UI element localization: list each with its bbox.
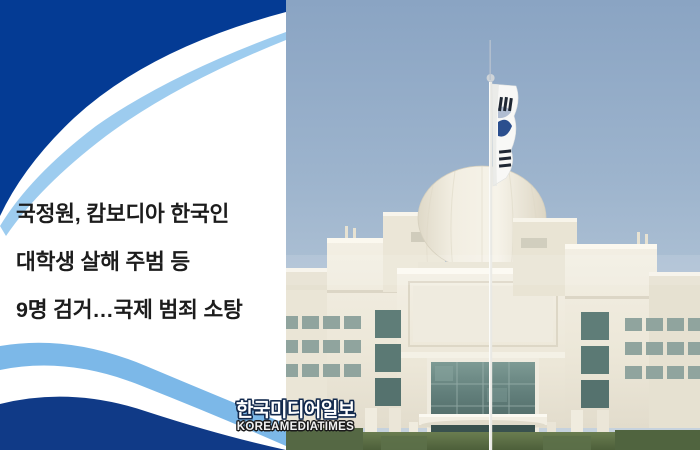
headline-line-2: 대학생 살해 주범 등 <box>16 238 278 286</box>
headline: 국정원, 캄보디아 한국인 대학생 살해 주범 등 9명 검거…국제 범죄 소탕 <box>16 190 278 334</box>
headline-line-3: 9명 검거…국제 범죄 소탕 <box>16 286 278 334</box>
windows-left-grid <box>285 316 361 377</box>
watermark-korean-text: 한국미디어일보 <box>236 400 355 421</box>
windows-left-glass-slots <box>375 310 401 406</box>
news-card: 국정원, 캄보디아 한국인 대학생 살해 주범 등 9명 검거…국제 범죄 소탕… <box>0 0 700 450</box>
watermark-english-text: KOREAMEDIATIMES <box>236 421 355 433</box>
news-photo <box>285 0 700 450</box>
windows-right-glass-slots <box>581 312 609 408</box>
headline-line-1: 국정원, 캄보디아 한국인 <box>16 190 278 238</box>
nis-headquarters-illustration <box>285 0 700 450</box>
windows-right-grid <box>625 318 700 379</box>
watermark-logo: 한국미디어일보 KOREAMEDIATIMES <box>232 399 359 435</box>
